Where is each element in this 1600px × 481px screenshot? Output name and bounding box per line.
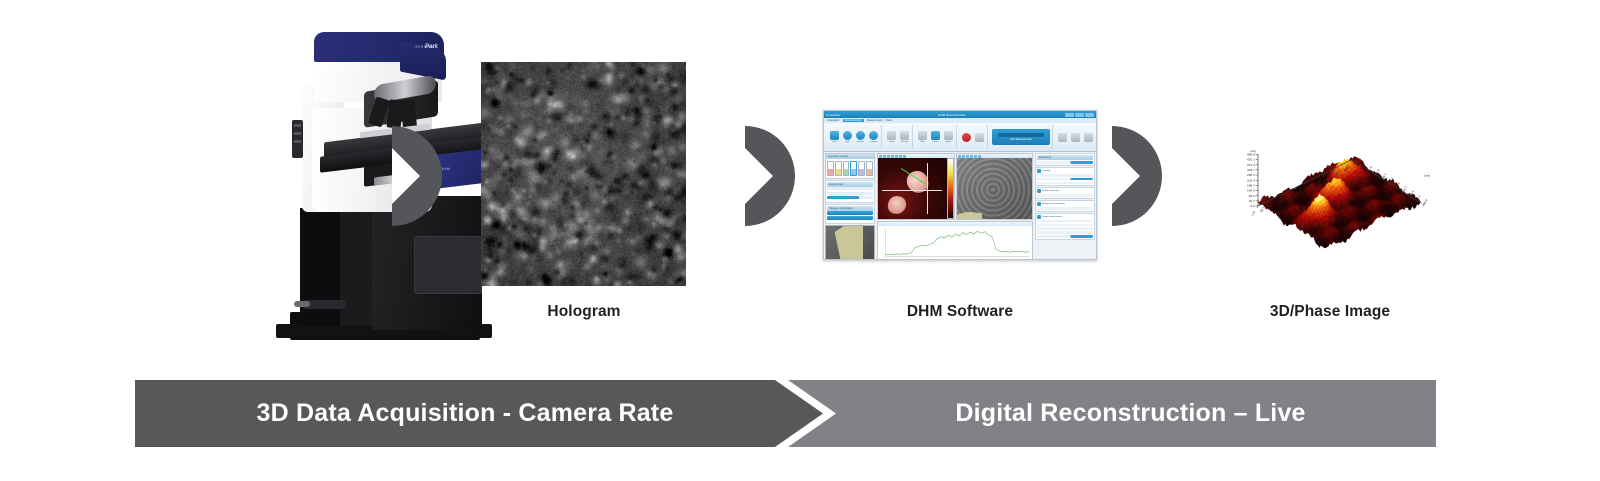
banner-segment-right: Digital Reconstruction – Live: [825, 380, 1436, 447]
phase-view[interactable]: [877, 153, 955, 220]
preset-swatch-row[interactable]: [826, 159, 874, 178]
app-name: LynceeTec: [826, 113, 840, 117]
document-name: DHM Reconstruction: [938, 113, 966, 117]
crosshair-vertical: [927, 163, 928, 214]
profile-plot-panel[interactable]: [877, 221, 1033, 260]
svg-text:280.1: 280.1: [1247, 173, 1255, 177]
preset-swatch-3[interactable]: [843, 161, 850, 176]
workflow-figure: Park SYSTEMS DHM Hologram: [0, 0, 1600, 481]
svg-text:0.0: 0.0: [1250, 204, 1255, 208]
svg-text:93.4: 93.4: [1249, 194, 1255, 198]
ribbon-group-source: Laser Light Shutter Camera: [827, 125, 882, 149]
menu-item-2[interactable]: Measurement: [867, 119, 883, 122]
ribbon-group-analyze: [959, 125, 988, 149]
background-subtraction-section[interactable]: Background subtraction: [1035, 200, 1095, 212]
svg-text:233.4: 233.4: [1247, 178, 1255, 182]
svg-text:420.1: 420.1: [1247, 158, 1255, 162]
ribbon-button-shutter[interactable]: Shutter: [855, 131, 866, 143]
chevron-1-icon: [392, 126, 446, 226]
hologram-image: [481, 62, 686, 286]
optimize-button-1[interactable]: [827, 211, 873, 215]
menu-item-0[interactable]: Acquisition: [827, 119, 840, 122]
ribbon-toolbar[interactable]: Laser Light Shutter Camera Grab Record: [824, 123, 1096, 152]
cell-object-2: [886, 194, 907, 215]
ribbon-button-view-3d[interactable]: [1070, 133, 1081, 142]
preset-swatch-2[interactable]: [835, 161, 842, 176]
ribbon-button-layout[interactable]: [1083, 133, 1094, 142]
crosshair-horizontal: [882, 190, 942, 191]
step-instrument: Park SYSTEMS DHM: [120, 10, 410, 350]
svg-text:466.8: 466.8: [1247, 153, 1255, 157]
ribbon-button-grab[interactable]: Grab: [886, 131, 897, 143]
window-close-button[interactable]: [1085, 113, 1094, 117]
acquisition-settings-panel: Acquisition settings: [825, 153, 875, 179]
right-processing-panel[interactable]: Processing Leveling Digital refocusing B…: [1034, 152, 1096, 260]
ribbon-button-view-2d[interactable]: [1057, 133, 1068, 142]
banner-right-label: Digital Reconstruction – Live: [955, 399, 1305, 428]
chevron-3-icon: [1112, 126, 1166, 226]
intensity-image-canvas[interactable]: [957, 158, 1033, 219]
center-view-area: [876, 152, 1034, 260]
svg-text:0.0: 0.0: [1251, 210, 1257, 216]
ribbon-button-stop[interactable]: [961, 133, 972, 142]
caption-hologram: Hologram: [450, 303, 718, 321]
refocus-title: Digital refocusing: [1042, 190, 1059, 192]
ribbon-button-measure[interactable]: [974, 133, 985, 142]
shape-enhancement-section[interactable]: Shape enhancement: [1035, 213, 1095, 240]
banner-segment-left: 3D Data Acquisition - Camera Rate: [135, 380, 795, 447]
preset-swatch-4[interactable]: [850, 161, 857, 176]
preset-swatch-5[interactable]: [858, 161, 865, 176]
svg-text:46.7: 46.7: [1249, 199, 1255, 203]
ribbon-group-acquire: Grab Record: [884, 125, 913, 149]
leveling-title: Leveling: [1042, 170, 1050, 172]
step-phase-image: 0.046.793.4140.0186.7233.4280.1326.7373.…: [1160, 100, 1500, 330]
menu-item-3[interactable]: Tools: [886, 119, 892, 122]
ribbon-button-camera[interactable]: Camera: [868, 131, 879, 143]
park-systems-logo: Park SYSTEMS: [408, 44, 442, 60]
step-hologram: Hologram: [450, 55, 718, 330]
start-reconstruction-button[interactable]: Start Reconstruction: [992, 129, 1050, 145]
ribbon-button-laser[interactable]: Laser: [829, 131, 840, 143]
brand-sub: SYSTEMS: [408, 44, 442, 51]
svg-text:140.0: 140.0: [1247, 189, 1255, 193]
background-title: Background subtraction: [1042, 203, 1065, 205]
phase-colorbar: [947, 158, 954, 219]
ribbon-group-process: Filter Phase Mask: [915, 125, 957, 149]
digital-refocusing-section[interactable]: Digital refocusing: [1035, 187, 1095, 199]
right-panel-title: Processing: [1037, 155, 1093, 160]
ribbon-button-mask[interactable]: Mask: [943, 131, 954, 143]
window-maximize-button[interactable]: [1075, 113, 1084, 117]
banner-left-label: 3D Data Acquisition - Camera Rate: [257, 399, 674, 428]
svg-text:[nm]: [nm]: [1250, 149, 1256, 153]
surface-plot-icon: 0.046.793.4140.0186.7233.4280.1326.7373.…: [1196, 110, 1446, 262]
left-settings-panel[interactable]: Acquisition settings Experimental: [824, 152, 876, 260]
optimize-button-2[interactable]: [827, 216, 873, 220]
hologram-optimization-title: Hologram optimization: [827, 206, 873, 211]
caption-phase-image: 3D/Phase Image: [1160, 303, 1500, 321]
processing-header: Processing: [1035, 153, 1095, 166]
menu-item-1[interactable]: Reconstruction: [843, 119, 864, 122]
caption-software: DHM Software: [810, 303, 1110, 321]
svg-text:373.4: 373.4: [1247, 163, 1255, 167]
ribbon-button-filter[interactable]: Filter: [917, 131, 928, 143]
svg-text:466.8: 466.8: [1421, 198, 1428, 207]
profile-chart: [878, 226, 1032, 260]
leveling-section[interactable]: Leveling: [1035, 167, 1095, 186]
window-minimize-button[interactable]: [1065, 113, 1074, 117]
intensity-view[interactable]: [956, 153, 1034, 220]
preset-swatch-6[interactable]: [866, 161, 873, 176]
ribbon-button-light[interactable]: Light: [842, 131, 853, 143]
svg-text:326.7: 326.7: [1401, 185, 1408, 194]
experimental-section[interactable]: Experimental: [825, 180, 875, 203]
shape-title: Shape enhancement: [1042, 216, 1062, 218]
preset-swatch-1[interactable]: [827, 161, 834, 176]
preview-thumbnail[interactable]: [825, 225, 875, 261]
ribbon-button-phase[interactable]: Phase: [930, 131, 941, 143]
ribbon-group-view: [1055, 125, 1097, 149]
step-software: LynceeTec DHM Reconstruction Acquisition…: [810, 100, 1110, 330]
svg-text:186.7: 186.7: [1247, 184, 1255, 188]
svg-text:420.1: 420.1: [1414, 194, 1421, 203]
hologram-optimization-section[interactable]: Hologram optimization: [825, 204, 875, 224]
ribbon-group-primary: Start Reconstruction: [990, 125, 1053, 149]
svg-text:326.7: 326.7: [1247, 168, 1255, 172]
svg-text:[um]: [um]: [1424, 174, 1430, 178]
ribbon-button-record[interactable]: Record: [899, 131, 910, 143]
dhm-application-window[interactable]: LynceeTec DHM Reconstruction Acquisition…: [823, 110, 1097, 260]
process-banner: 3D Data Acquisition - Camera Rate Digita…: [135, 380, 1436, 447]
phase-image-canvas[interactable]: [878, 158, 947, 219]
window-titlebar: LynceeTec DHM Reconstruction: [824, 111, 1096, 118]
chevron-2-icon: [745, 126, 799, 226]
